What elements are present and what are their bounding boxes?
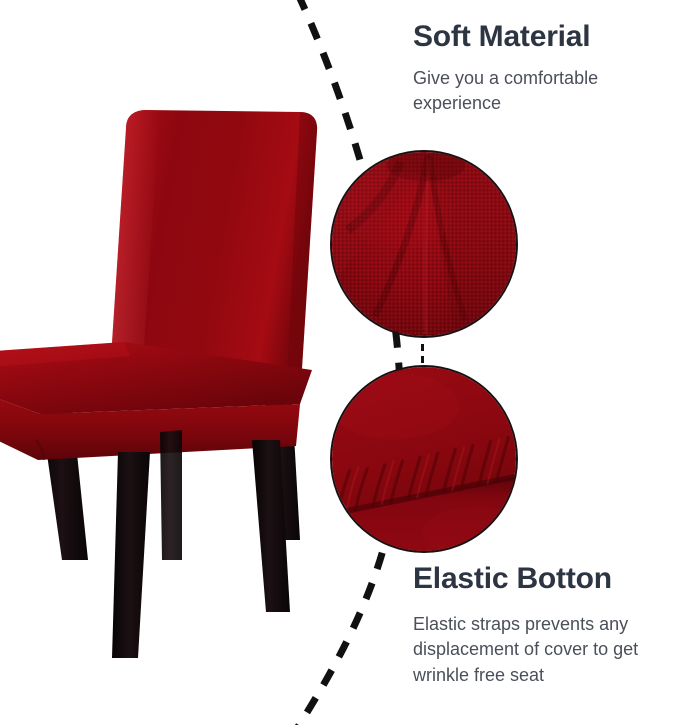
feature-title-elastic-botton: Elastic Botton [413, 562, 679, 596]
feature-soft-material: Soft Material Give you a comfortable exp… [413, 20, 679, 117]
feature-title-soft-material: Soft Material [413, 20, 679, 54]
callout-circle-elastic-botton [330, 365, 518, 553]
product-infographic: Soft Material Give you a comfortable exp… [0, 0, 679, 725]
chair-leg-front-left [112, 452, 150, 658]
chair-leg-mid [160, 430, 182, 560]
feature-elastic-botton: Elastic Botton Elastic straps prevents a… [413, 562, 679, 688]
fabric-texture-closeup-icon [332, 152, 516, 336]
chair-illustration [0, 0, 340, 660]
feature-description-elastic-botton: Elastic straps prevents any displacement… [413, 612, 679, 689]
feature-description-soft-material: Give you a comfortable experience [413, 66, 679, 117]
dashed-connector [421, 344, 424, 364]
callout-circle-soft-material [330, 150, 518, 338]
product-image-chair [0, 0, 340, 660]
elastic-hem-closeup-icon [332, 367, 516, 551]
